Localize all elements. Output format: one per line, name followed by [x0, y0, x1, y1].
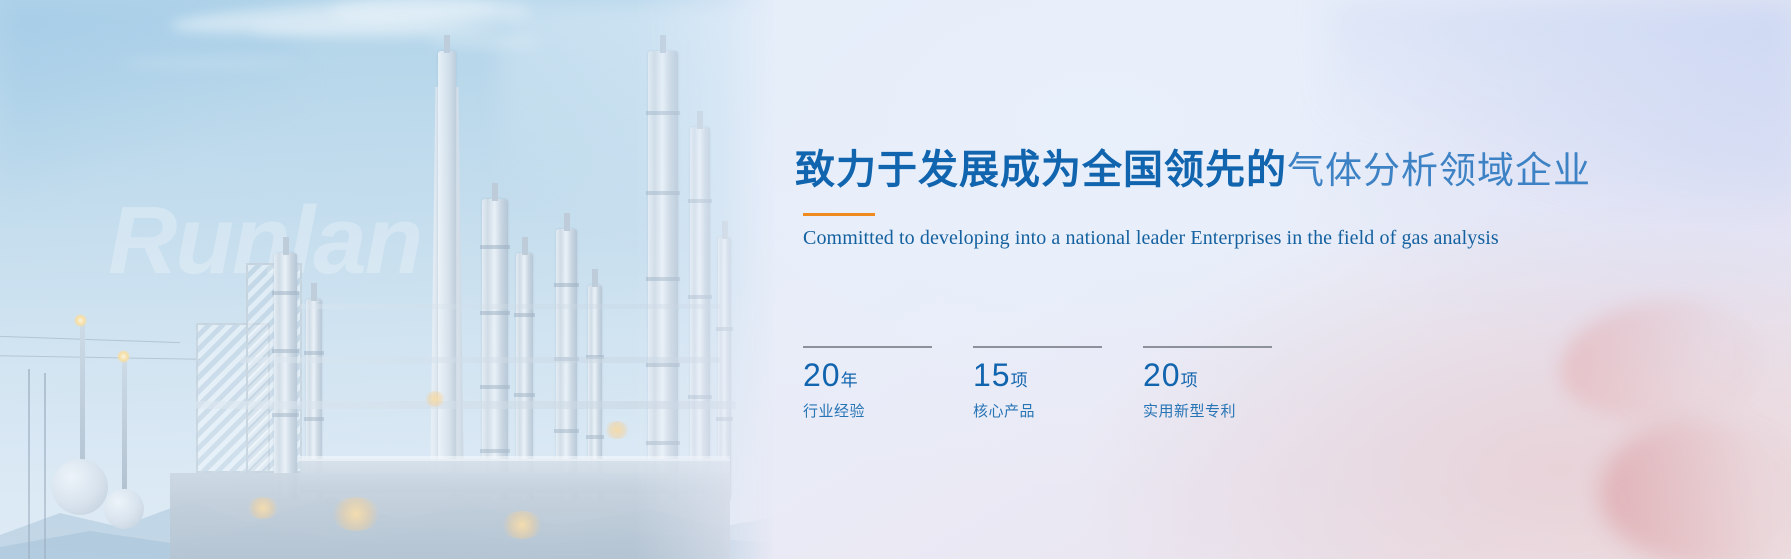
distillation-column: [274, 253, 297, 499]
flare-flame: [117, 350, 130, 363]
stat-card-patents: 20项 实用新型专利: [1143, 346, 1272, 421]
stat-label: 核心产品: [973, 400, 1102, 421]
equipment-glow: [424, 391, 446, 407]
stat-unit: 项: [1011, 371, 1028, 390]
stat-number: 20: [1143, 357, 1181, 393]
smokestack-upper: [438, 51, 456, 499]
power-wire: [0, 336, 180, 343]
equipment-glow: [604, 421, 630, 439]
pipe-rack: [196, 401, 736, 409]
refinery-photo: Runlan: [0, 0, 775, 559]
flare-stack: [122, 357, 127, 489]
plant-deck-upper: [300, 459, 730, 493]
deck-railing: [300, 456, 730, 461]
distillation-column: [690, 127, 710, 499]
stat-number: 20: [803, 357, 841, 393]
pipe-rack: [300, 304, 720, 309]
stat-value: 20项: [1143, 359, 1272, 391]
equipment-glow: [500, 511, 544, 539]
flare-flame: [74, 314, 87, 327]
spherical-tank: [104, 489, 144, 529]
spherical-tank: [52, 459, 108, 515]
power-pylon: [28, 369, 30, 559]
power-pylon: [44, 373, 46, 559]
equipment-glow: [330, 497, 382, 531]
stat-card-experience: 20年 行业经验: [803, 346, 932, 421]
stat-unit: 项: [1181, 371, 1198, 390]
accent-rule: [803, 213, 875, 216]
stat-number: 15: [973, 357, 1011, 393]
stat-label: 实用新型专利: [1143, 400, 1272, 421]
equipment-glow: [246, 497, 280, 519]
hero-banner: Runlan: [0, 0, 1791, 559]
stat-label: 行业经验: [803, 400, 932, 421]
power-wire: [0, 355, 200, 359]
stat-unit: 年: [841, 371, 858, 390]
pipe-rack: [240, 357, 720, 363]
main-fractionation-tower: [648, 51, 678, 499]
stat-value: 20年: [803, 359, 932, 391]
headline-light: 气体分析领域企业: [1287, 150, 1591, 191]
hero-content: 致力于发展成为全国领先的气体分析领域企业 Committed to develo…: [795, 0, 1791, 559]
distillation-column: [482, 199, 508, 499]
headline-subtitle: Committed to developing into a national …: [803, 227, 1499, 250]
stat-card-core-products: 15项 核心产品: [973, 346, 1102, 421]
stat-value: 15项: [973, 359, 1102, 391]
headline: 致力于发展成为全国领先的气体分析领域企业: [795, 150, 1591, 190]
headline-strong: 致力于发展成为全国领先的: [795, 148, 1287, 192]
stats-row: 20年 行业经验 15项 核心产品 20项 实用新型专利: [803, 346, 1272, 421]
refinery-structures: [0, 39, 775, 559]
